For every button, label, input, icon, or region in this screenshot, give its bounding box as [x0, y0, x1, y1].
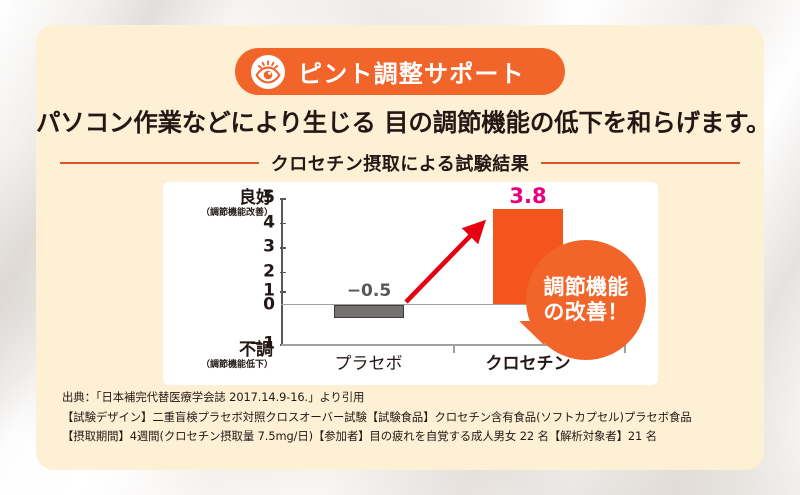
subtitle-row: クロセチン摂取による試験結果 [60, 151, 740, 175]
infographic-stage: ピント調整サポート パソコン作業などにより生じる 目の調節機能の低下を和らげます… [0, 0, 800, 495]
subtitle: クロセチン摂取による試験結果 [271, 150, 529, 176]
bar-placebo [334, 305, 404, 317]
category-separator [453, 344, 455, 353]
y-tick-label-n1: −1 [249, 336, 275, 353]
footnote-participants: 【摂取期間】4週間(クロセチン摂取量 7.5mg/日)【参加者】目の疲れを自覚す… [62, 427, 752, 447]
footnotes: 出典：「日本補完代替医療学会誌 2017.14.9-16.」より引用 【試験デザ… [62, 388, 752, 447]
y-axis-tick-labels: 5 4 3 2 1 0 −1 [247, 198, 275, 346]
badge-label: ピント調整サポート [298, 54, 525, 89]
y-tick-label-0: 0 [249, 296, 275, 313]
y-tick-3 [280, 247, 286, 249]
feature-badge: ピント調整サポート [235, 48, 565, 95]
y-tick-label-4: 4 [249, 214, 275, 231]
footnote-design: 【試験デザイン】二重盲検プラセボ対照クロスオーバー試験【試験食品】クロセチン含有… [62, 408, 752, 428]
content-card: ピント調整サポート パソコン作業などにより生じる 目の調節機能の低下を和らげます… [36, 25, 764, 470]
y-tick-label-3: 3 [249, 239, 275, 256]
rule-left [60, 162, 259, 165]
category-label-placebo: プラセボ [311, 356, 426, 373]
y-tick-label-2: 2 [249, 263, 275, 280]
callout-bubble: 調節機能 の改善！ [518, 240, 646, 368]
eye-icon [251, 55, 285, 89]
callout-body: 調節機能 の改善！ [526, 240, 646, 360]
value-label-placebo: −0.5 [327, 283, 411, 300]
y-tick-label-5: 5 [249, 190, 275, 207]
y-tick-2 [280, 272, 286, 274]
callout-line-2: の改善！ [543, 300, 628, 325]
y-tick-4 [280, 223, 286, 225]
headline: パソコン作業などにより生じる 目の調節機能の低下を和らげます。 [36, 104, 764, 139]
chart-panel: 良好 （調節機能改善） 不調 （調節機能低下） 5 4 3 2 1 0 −1 [163, 182, 658, 385]
value-label-crocetin: 3.8 [486, 186, 570, 207]
footnote-source: 出典：「日本補完代替医療学会誌 2017.14.9-16.」より引用 [62, 388, 752, 408]
y-tick-5 [280, 198, 286, 200]
rule-right [541, 162, 740, 165]
y-tick-1 [280, 291, 286, 293]
callout-line-1: 調節機能 [543, 275, 628, 300]
y-axis-bottom-sub: （調節機能低下） [163, 361, 273, 370]
